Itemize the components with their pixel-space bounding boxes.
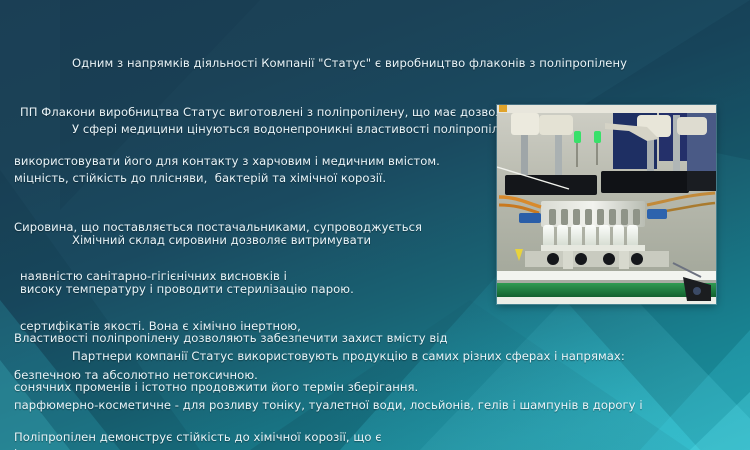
chemical-line-1: Хімічний склад сировини дозволяє витриму… bbox=[14, 232, 514, 248]
production-line-photo bbox=[497, 105, 716, 304]
partners-line-1: Партнери компанії Статус використовують … bbox=[14, 348, 736, 364]
presentation-slide: Одним з напрямків діяльності Компанії "С… bbox=[0, 0, 750, 450]
intro-line-1: Одним з напрямків діяльності Компанії "С… bbox=[14, 55, 736, 71]
paragraph-partners: Партнери компанії Статус використовують … bbox=[14, 315, 736, 450]
partners-line-3: ін. bbox=[14, 446, 736, 450]
chemical-line-2: високу температуру і проводити стериліза… bbox=[14, 281, 514, 297]
partners-line-2: парфюмерно-косметичне - для розливу тоні… bbox=[14, 397, 736, 413]
